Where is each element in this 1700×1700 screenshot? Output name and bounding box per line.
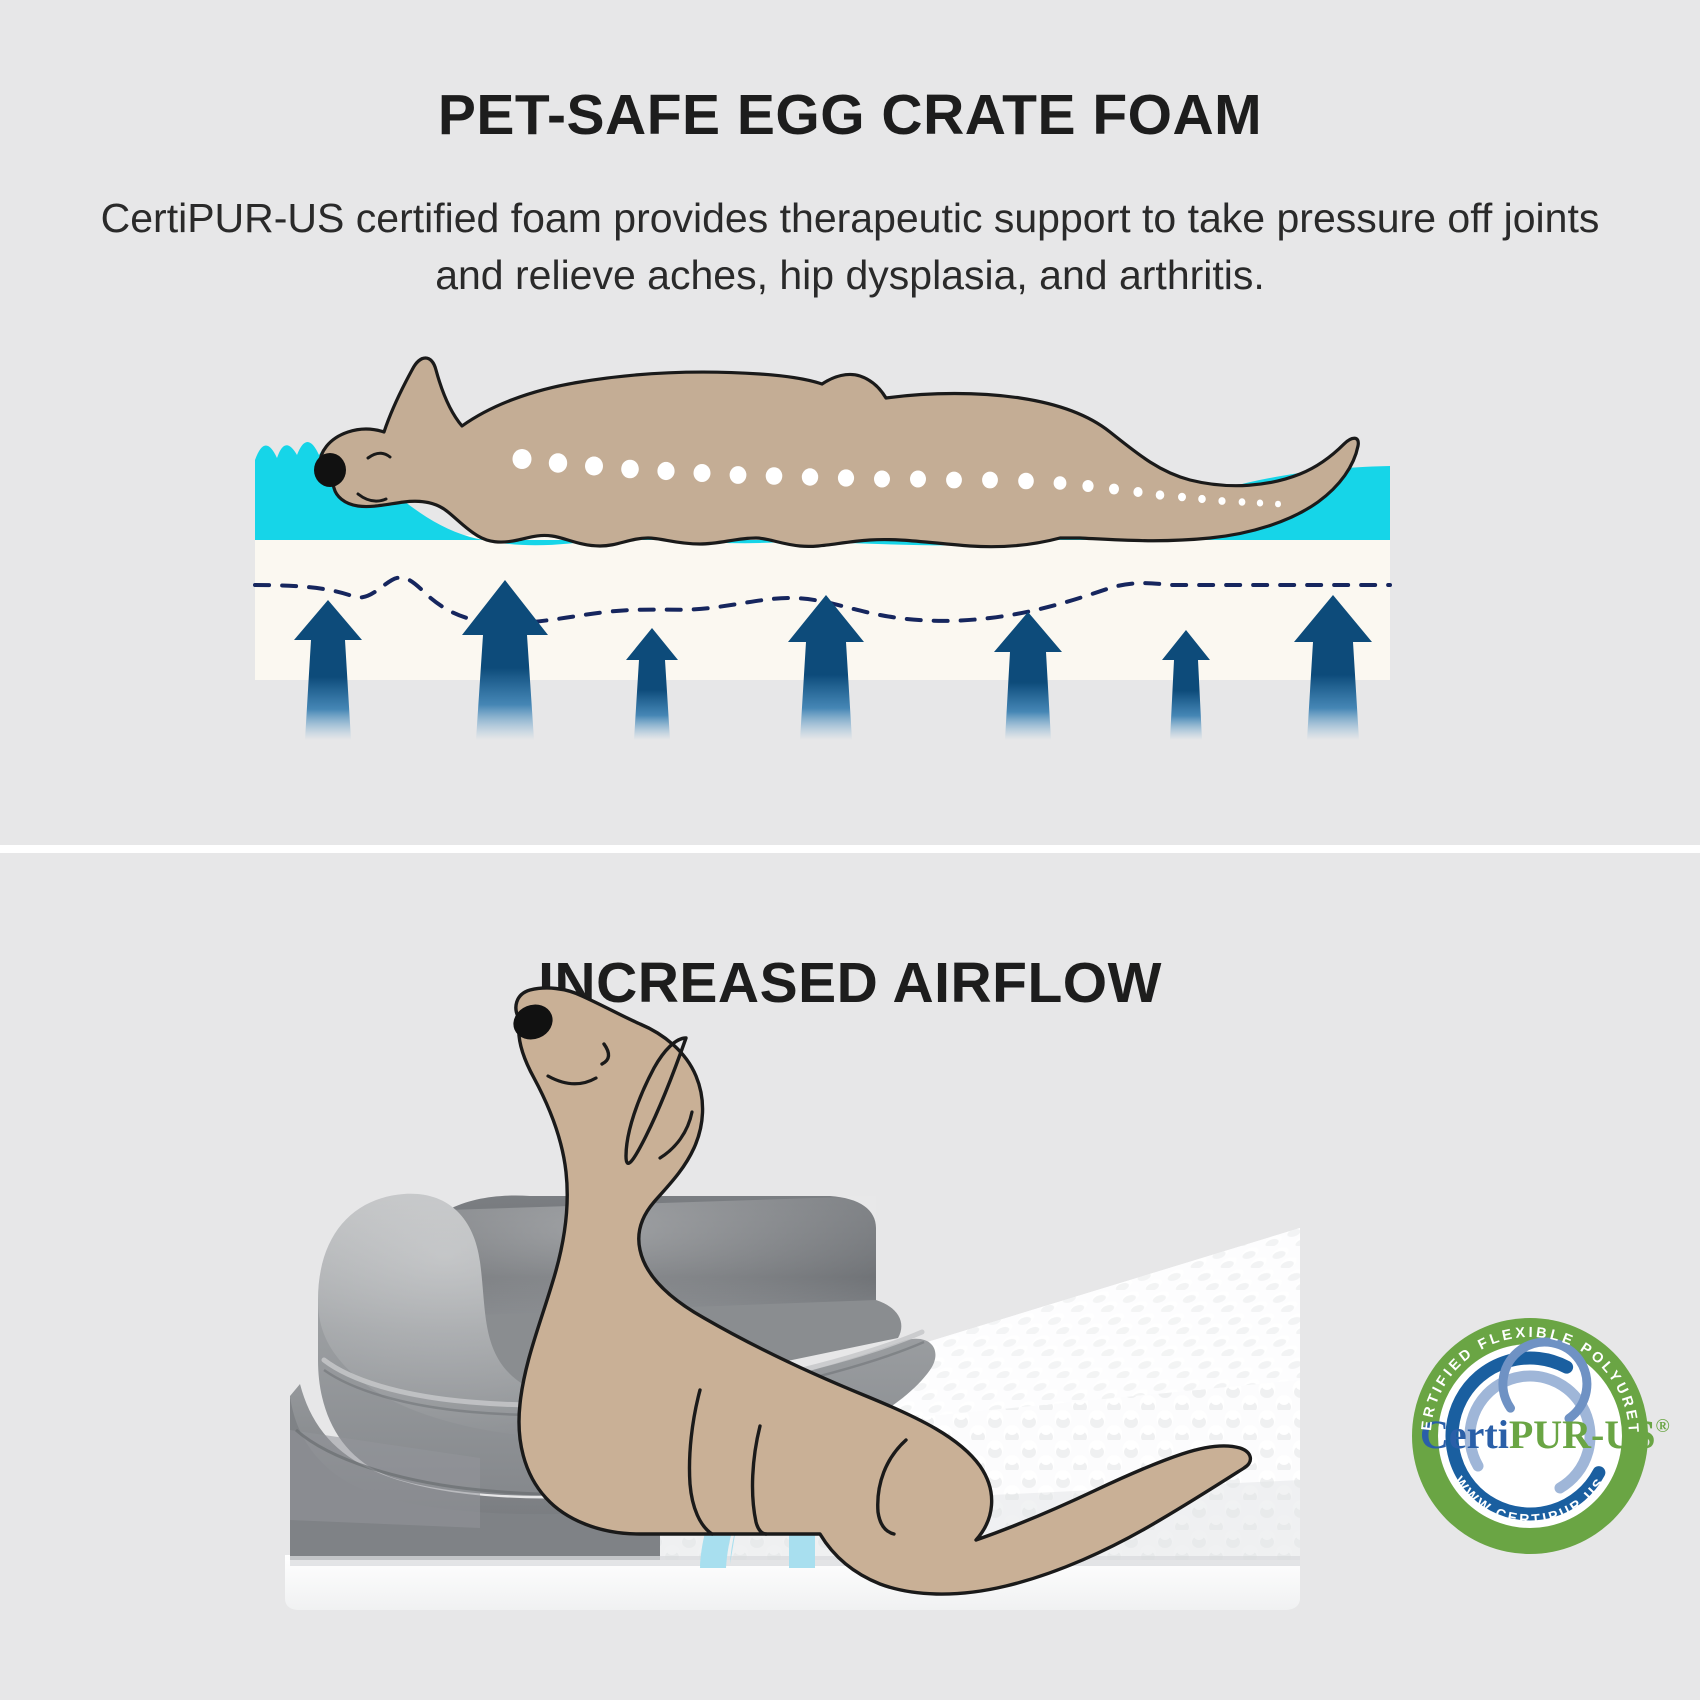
dog-nose <box>314 453 346 487</box>
foam-cross-section-diagram <box>0 340 1700 760</box>
badge-registered-mark: ® <box>1656 1416 1670 1437</box>
certipur-us-badge: CertiPUR-US® CONTAINS CERTIFIED FLEXIBLE… <box>1404 1306 1669 1554</box>
page-title-top: PET-SAFE EGG CRATE FOAM <box>0 82 1700 148</box>
panel-divider <box>0 845 1700 853</box>
dog-illustration-lying <box>314 358 1358 547</box>
subtitle-text: CertiPUR-US certified foam provides ther… <box>70 190 1630 303</box>
dog-bed-airflow-illustration: CertiPUR-US® CONTAINS CERTIFIED FLEXIBLE… <box>0 960 1700 1660</box>
